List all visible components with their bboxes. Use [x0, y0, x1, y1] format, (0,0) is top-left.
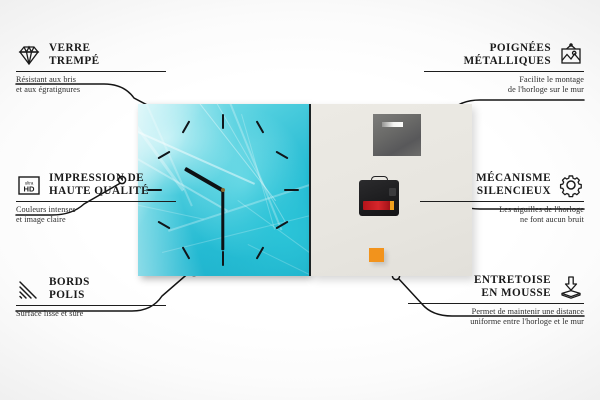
picture-frame-icon [558, 42, 584, 68]
feature-divider [424, 71, 584, 72]
feature-title: MÉCANISME SILENCIEUX [476, 172, 551, 197]
feature-divider [408, 303, 584, 304]
clock-minute-hand [222, 190, 225, 250]
battery [363, 201, 391, 210]
feature-divider [16, 305, 166, 306]
spacer-arrow-icon [558, 274, 584, 300]
clock-mechanism [359, 176, 399, 216]
feature-subtitle: Résistant aux bris et aux égratignures [16, 75, 166, 95]
feature-divider [16, 71, 166, 72]
clock-tick-2 [275, 151, 288, 160]
gear-icon [558, 172, 584, 198]
feature-entretoise-en-mousse: ENTRETOISE EN MOUSSE Permet de maintenir… [408, 274, 584, 327]
feature-poignees-metalliques: POIGNÉES MÉTALLIQUES Facilite le montage… [424, 42, 584, 95]
mechanism-body [359, 180, 399, 216]
feature-bords-polis: BORDS POLIS Surface lisse et sûre [16, 276, 166, 319]
feature-subtitle: Les aiguilles de l'horloge ne font aucun… [420, 205, 584, 225]
feature-title: ENTRETOISE EN MOUSSE [474, 274, 551, 299]
feature-divider [16, 201, 176, 202]
feature-impression-haute-qualite: ultra HD IMPRESSION DE HAUTE QUALITÉ Cou… [16, 172, 176, 225]
metal-bracket [373, 114, 421, 156]
ultra-hd-icon: ultra HD [16, 172, 42, 198]
diamond-icon [16, 42, 42, 68]
polished-edges-icon [16, 276, 42, 302]
feature-subtitle: Surface lisse et sûre [16, 309, 166, 319]
clock-tick-3 [284, 189, 299, 191]
infographic-canvas: VERRE TREMPÉ Résistant aux bris et aux é… [0, 0, 600, 400]
foam-spacer [369, 248, 384, 262]
clock-tick-1 [256, 120, 265, 133]
feature-verre-trempe: VERRE TREMPÉ Résistant aux bris et aux é… [16, 42, 166, 95]
feature-title: BORDS POLIS [49, 276, 90, 301]
feature-subtitle: Couleurs intenses et image claire [16, 205, 176, 225]
feature-mecanisme-silencieux: MÉCANISME SILENCIEUX Les aiguilles de l'… [420, 172, 584, 225]
feature-subtitle: Facilite le montage de l'horloge sur le … [424, 75, 584, 95]
mechanism-knob [389, 188, 396, 196]
clock-tick-12 [222, 114, 224, 129]
feature-title: VERRE TREMPÉ [49, 42, 100, 67]
feature-title: POIGNÉES MÉTALLIQUES [464, 42, 551, 67]
feature-divider [420, 201, 584, 202]
feature-subtitle: Permet de maintenir une distance uniform… [408, 307, 584, 327]
feature-title: IMPRESSION DE HAUTE QUALITÉ [49, 172, 149, 197]
svg-text:HD: HD [24, 185, 35, 194]
battery-cap [390, 201, 394, 210]
clock-tick-6 [222, 251, 224, 266]
clock-tick-7 [182, 246, 191, 259]
clock-center-hub [221, 188, 225, 192]
clock-tick-11 [182, 120, 191, 133]
